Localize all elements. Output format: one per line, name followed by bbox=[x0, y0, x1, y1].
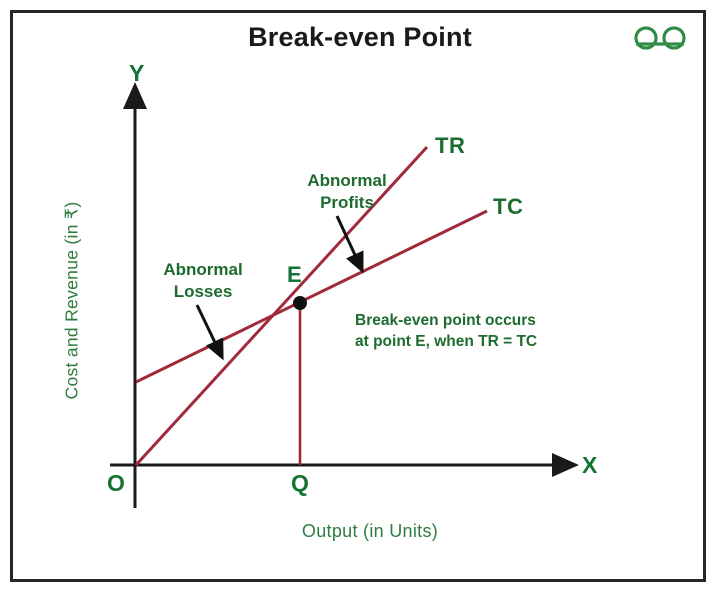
y-axis-letter: Y bbox=[129, 60, 144, 87]
abnormal-losses-line-1: Abnormal bbox=[128, 259, 278, 281]
abnormal-losses-line-2: Losses bbox=[128, 281, 278, 303]
abnormal-profits-line-1: Abnormal bbox=[272, 170, 422, 192]
origin-label: O bbox=[107, 470, 125, 497]
chart-plot-area bbox=[0, 0, 720, 594]
break-even-note: Break-even point occurs at point E, when… bbox=[355, 310, 615, 353]
break-even-note-line-1: Break-even point occurs bbox=[355, 310, 615, 331]
figure-canvas: Break-even Point bbox=[0, 0, 720, 594]
break-even-point-dot bbox=[293, 296, 307, 310]
y-axis-title: Cost and Revenue (in ₹) bbox=[62, 161, 83, 441]
abnormal-losses-annotation: Abnormal Losses bbox=[128, 259, 278, 303]
break-even-point-label: E bbox=[287, 262, 302, 288]
abnormal-profits-annotation: Abnormal Profits bbox=[272, 170, 422, 214]
break-even-note-line-2: at point E, when TR = TC bbox=[355, 331, 615, 352]
quantity-label: Q bbox=[291, 470, 309, 497]
tr-curve-label: TR bbox=[435, 133, 465, 159]
x-axis-title: Output (in Units) bbox=[180, 521, 560, 542]
abnormal-profits-line-2: Profits bbox=[272, 192, 422, 214]
tc-curve-label: TC bbox=[493, 194, 523, 220]
x-axis-letter: X bbox=[582, 452, 597, 479]
